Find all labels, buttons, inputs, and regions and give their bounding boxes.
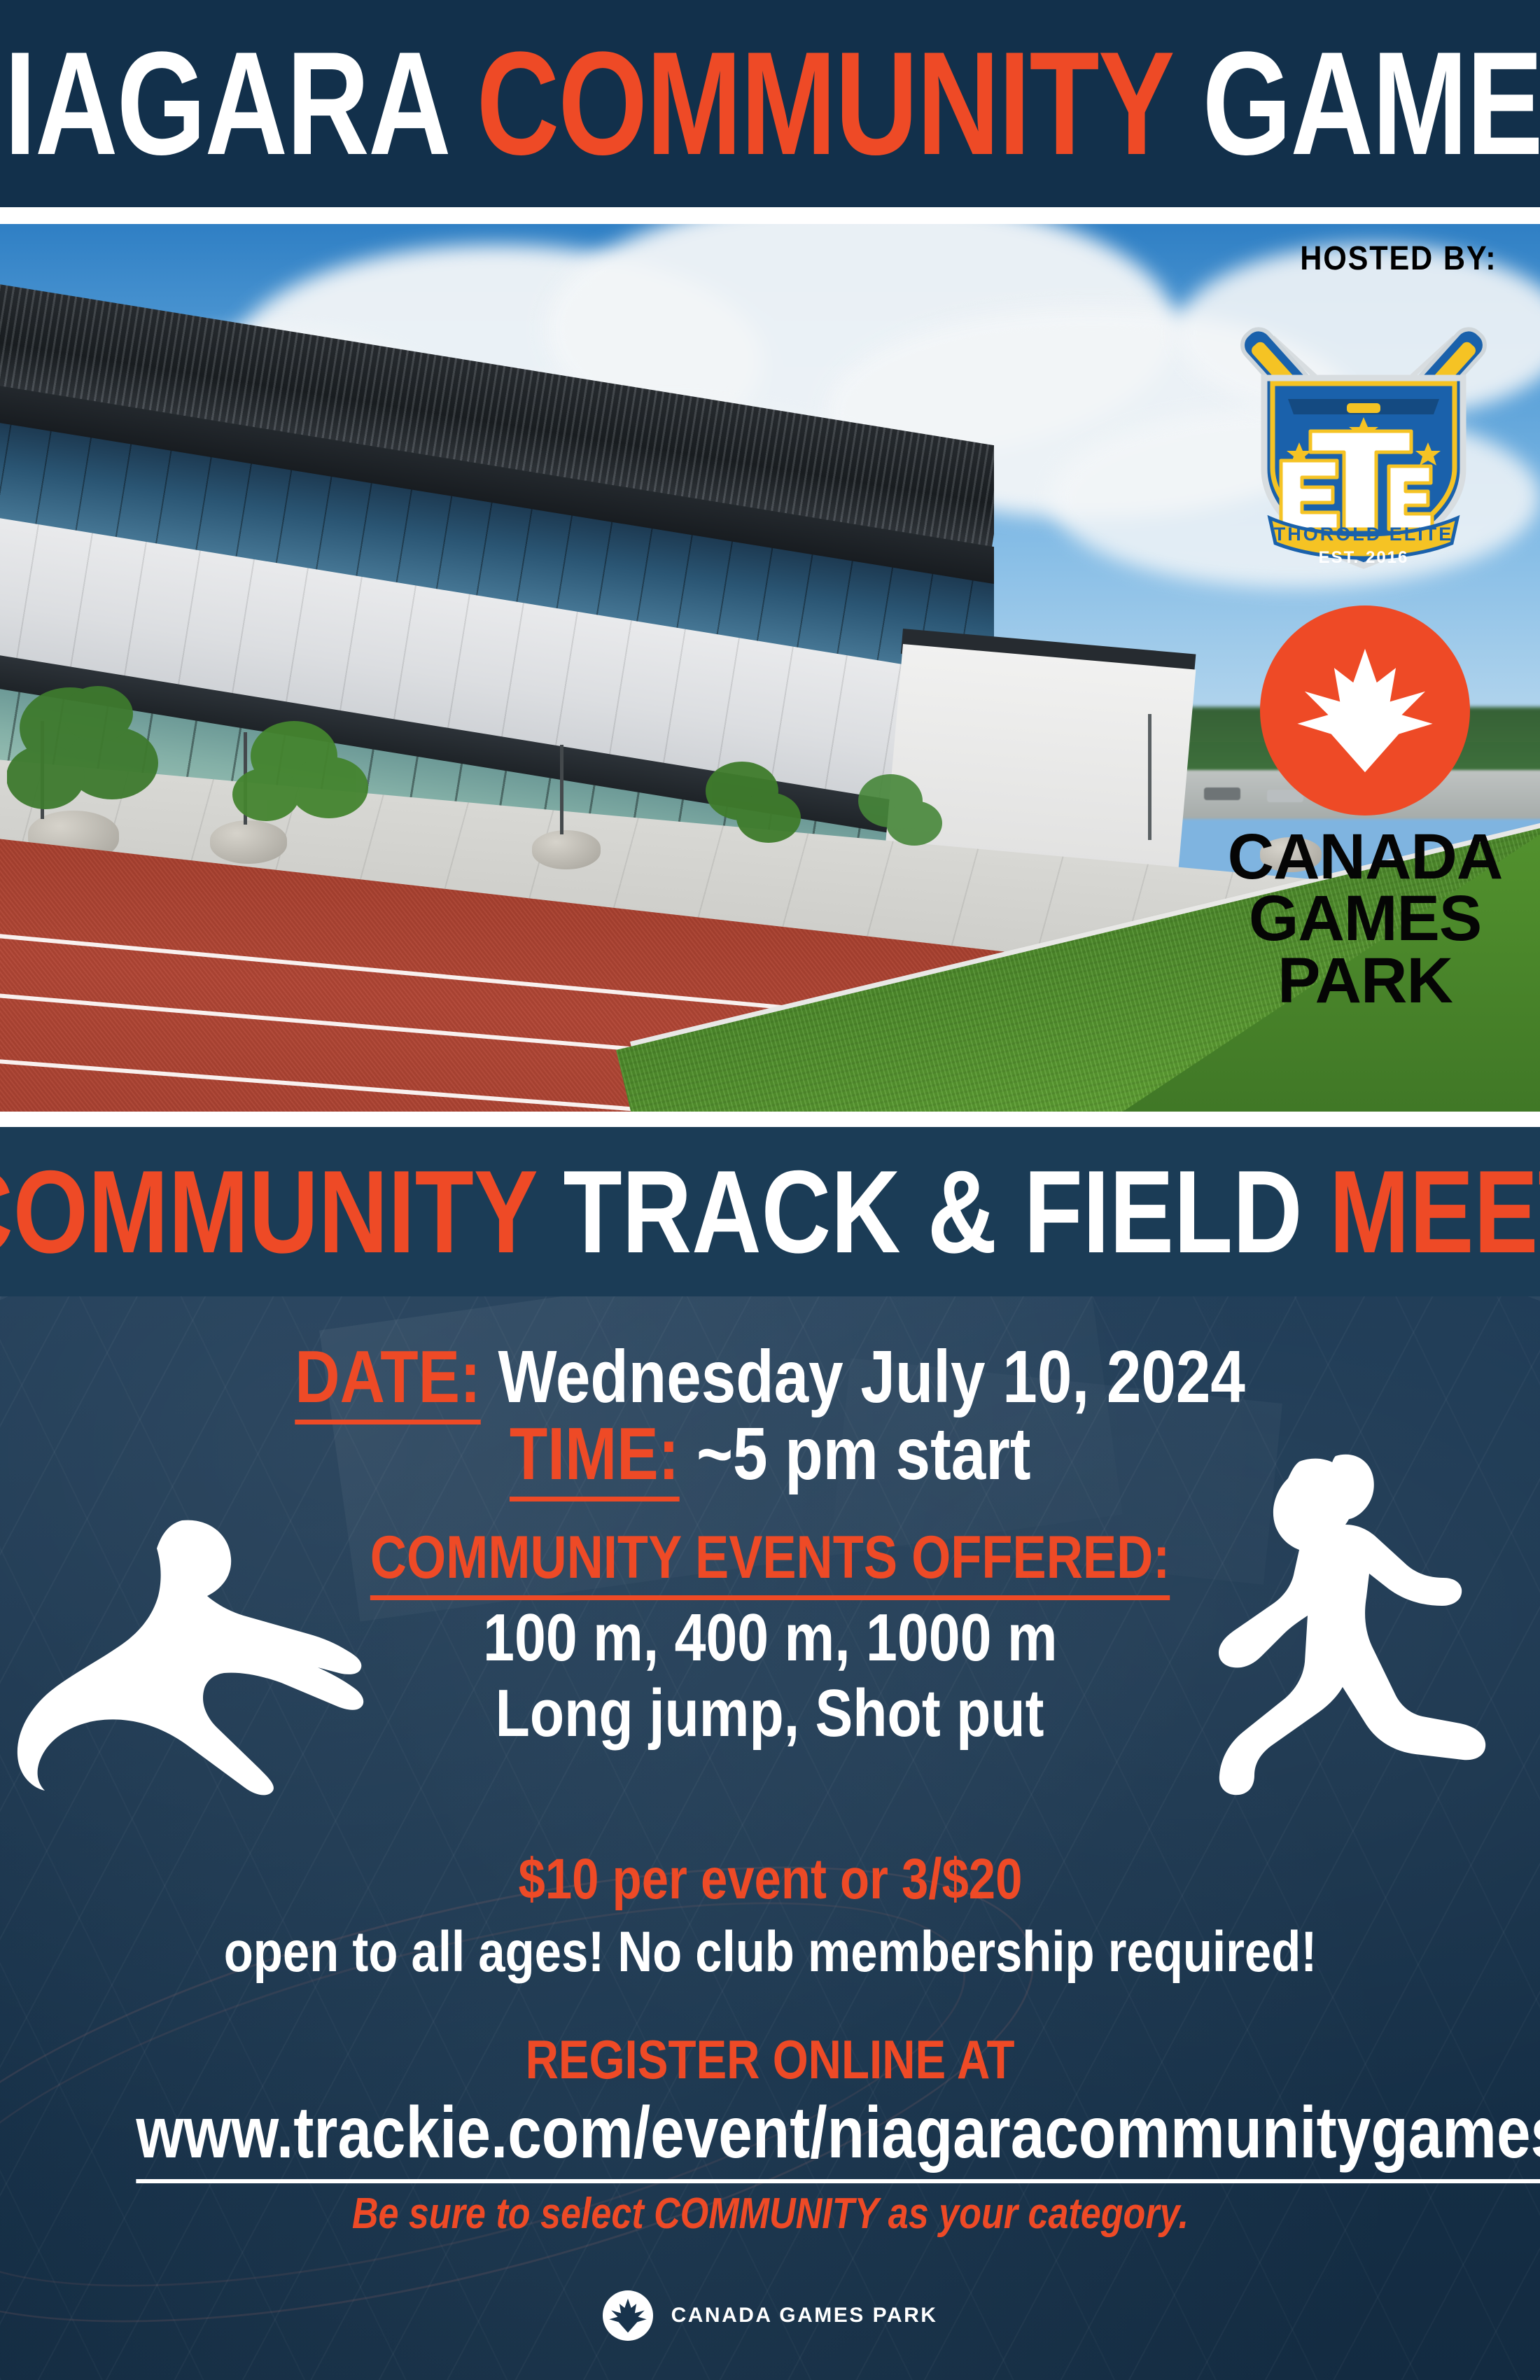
subtitle-part-1: COMMUNITY xyxy=(0,1146,536,1277)
title-part-1: NIAGARA xyxy=(0,21,477,185)
ettc-ribbon-text: THOROLD ELITE xyxy=(1274,524,1454,545)
subtitle-band: COMMUNITY TRACK & FIELD MEET xyxy=(0,1127,1540,1296)
maple-leaf-icon xyxy=(608,2295,648,2336)
subtitle: COMMUNITY TRACK & FIELD MEET xyxy=(0,1153,1540,1270)
pricing-block: $10 per event or 3/$20 open to all ages!… xyxy=(0,1849,1540,1982)
hero-photo: 6 HOSTED BY: xyxy=(0,224,1540,1112)
cgp-line-2: GAMES xyxy=(1190,888,1540,949)
subtitle-part-2: TRACK & FIELD xyxy=(536,1146,1329,1277)
price-text: $10 per event or 3/$20 xyxy=(518,1847,1022,1911)
events-block: COMMUNITY EVENTS OFFERED: 100 m, 400 m, … xyxy=(0,1527,1540,1751)
tree xyxy=(686,742,826,868)
eligibility-text: open to all ages! No club membership req… xyxy=(223,1920,1317,1984)
tree-stake xyxy=(560,745,563,834)
cgp-line-1: CANADA xyxy=(1190,826,1540,888)
registration-block: REGISTER ONLINE AT www.trackie.com/event… xyxy=(0,2031,1540,2236)
canada-games-park-logo-mark xyxy=(1260,605,1470,815)
poster-root: NIAGARA COMMUNITY GAMES xyxy=(0,0,1540,2380)
footer-logo-text: CANADA GAMES PARK xyxy=(671,2304,938,2327)
eligibility-row: open to all ages! No club membership req… xyxy=(0,1922,1540,1982)
register-note: Be sure to select COMMUNITY as your cate… xyxy=(351,2190,1188,2238)
register-heading-row: REGISTER ONLINE AT xyxy=(0,2031,1540,2089)
date-row: DATE: Wednesday July 10, 2024 xyxy=(0,1338,1540,1415)
events-line-1-row: 100 m, 400 m, 1000 m xyxy=(0,1600,1540,1676)
ettc-thorold-elite-logo: THOROLD ELITE EST. 2016 xyxy=(1224,294,1504,574)
ettc-established-text: EST. 2016 xyxy=(1319,548,1409,567)
canada-games-park-wordmark: CANADA GAMES PARK xyxy=(1190,826,1540,1011)
register-url-link[interactable]: www.trackie.com/event/niagaracommunityga… xyxy=(136,2092,1540,2183)
subtitle-part-3: MEET xyxy=(1329,1146,1540,1277)
events-heading-row: COMMUNITY EVENTS OFFERED: xyxy=(0,1527,1540,1588)
price-row: $10 per event or 3/$20 xyxy=(0,1849,1540,1910)
title-highlight: COMMUNITY xyxy=(477,21,1172,185)
page-title: NIAGARA COMMUNITY GAMES xyxy=(0,34,1540,174)
events-heading: COMMUNITY EVENTS OFFERED: xyxy=(370,1524,1170,1600)
tree xyxy=(840,756,966,868)
time-value: ~5 pm start xyxy=(696,1413,1031,1495)
concrete-planter xyxy=(532,830,601,869)
register-url-row[interactable]: www.trackie.com/event/niagaracommunityga… xyxy=(0,2093,1540,2173)
title-part-2: GAMES xyxy=(1172,21,1540,185)
details-section: DATE: Wednesday July 10, 2024 TIME: ~5 p… xyxy=(0,1296,1540,2380)
footer-logo-mark xyxy=(603,2290,653,2341)
register-heading: REGISTER ONLINE AT xyxy=(526,2029,1015,2090)
light-pole xyxy=(1148,714,1151,840)
maple-leaf-icon xyxy=(1291,637,1438,784)
cgp-line-3: PARK xyxy=(1190,950,1540,1011)
events-line-2: Long jump, Shot put xyxy=(496,1676,1044,1751)
register-note-row: Be sure to select COMMUNITY as your cate… xyxy=(0,2191,1540,2236)
time-label: TIME: xyxy=(510,1413,679,1501)
events-line-1: 100 m, 400 m, 1000 m xyxy=(483,1600,1057,1675)
date-label: DATE: xyxy=(295,1336,480,1424)
parked-car xyxy=(1204,787,1240,800)
tree xyxy=(231,700,406,854)
tree xyxy=(7,672,217,854)
date-value: Wednesday July 10, 2024 xyxy=(498,1336,1245,1418)
events-line-2-row: Long jump, Shot put xyxy=(0,1676,1540,1751)
footer-logo: CANADA GAMES PARK xyxy=(0,2290,1540,2341)
poster-title-bar: NIAGARA COMMUNITY GAMES xyxy=(0,0,1540,207)
hosted-by-label: HOSTED BY: xyxy=(1300,239,1497,278)
